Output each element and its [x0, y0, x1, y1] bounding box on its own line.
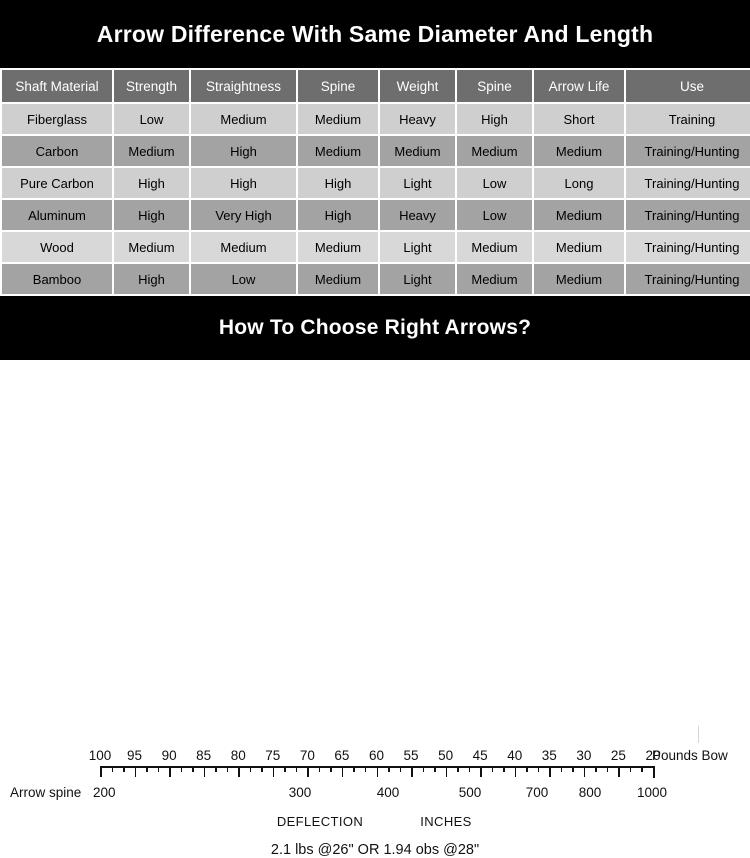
bow-weight-tick-label: 85: [196, 748, 211, 763]
ruler-minor-tick: [284, 766, 286, 772]
table-cell: Light: [380, 264, 455, 294]
ruler-major-tick: [273, 766, 275, 777]
table-cell: High: [298, 168, 378, 198]
ruler-minor-tick: [538, 766, 540, 772]
table-header-cell: Strength: [114, 70, 189, 102]
ruler-minor-tick: [365, 766, 367, 772]
ruler-minor-tick: [353, 766, 355, 772]
comparison-table-container: Shaft MaterialStrengthStraightnessSpineW…: [0, 68, 750, 296]
table-cell: High: [191, 136, 296, 166]
table-cell: Long: [534, 168, 624, 198]
table-header-cell: Spine: [457, 70, 532, 102]
table-cell: Medium: [534, 232, 624, 262]
infographic-page: Arrow Difference With Same Diameter And …: [0, 0, 750, 506]
ruler-major-tick: [515, 766, 517, 777]
ruler-minor-tick: [112, 766, 114, 772]
table-cell: Training/Hunting: [626, 264, 750, 294]
shaft-material-cell: Carbon: [2, 136, 112, 166]
table-cell: Training/Hunting: [626, 232, 750, 262]
ruler-minor-tick: [123, 766, 125, 772]
bow-weight-ruler: [100, 766, 653, 779]
bow-weight-tick-label: 35: [542, 748, 557, 763]
choose-arrows-banner: How To Choose Right Arrows?: [0, 296, 750, 360]
ruler-minor-tick: [215, 766, 217, 772]
table-cell: Low: [457, 168, 532, 198]
table-header-cell: Spine: [298, 70, 378, 102]
table-cell: Medium: [457, 232, 532, 262]
ruler-minor-tick: [330, 766, 332, 772]
table-cell: Medium: [298, 136, 378, 166]
ruler-minor-tick: [469, 766, 471, 772]
table-row: AluminumHighVery HighHighHeavyLowMediumT…: [2, 200, 750, 230]
table-cell: High: [457, 104, 532, 134]
ruler-minor-tick: [492, 766, 494, 772]
bow-weight-tick-label: 45: [473, 748, 488, 763]
spine-value: 500: [459, 785, 482, 800]
table-cell: Medium: [114, 232, 189, 262]
ruler-major-tick: [549, 766, 551, 777]
ruler-minor-tick: [158, 766, 160, 772]
ruler-minor-tick: [388, 766, 390, 772]
ruler-minor-tick: [457, 766, 459, 772]
table-cell: Short: [534, 104, 624, 134]
table-cell: Medium: [191, 232, 296, 262]
table-cell: Training/Hunting: [626, 136, 750, 166]
ruler-major-tick: [411, 766, 413, 777]
bow-weight-tick-label: 25: [611, 748, 626, 763]
ruler-end-cap: [653, 766, 655, 778]
bow-weight-tick-label: 80: [231, 748, 246, 763]
spine-value: 1000: [637, 785, 667, 800]
ruler-minor-tick: [572, 766, 574, 772]
shaft-material-cell: Bamboo: [2, 264, 112, 294]
arrow-spine-scale: Arrow spine 2003004005007008001000: [0, 785, 750, 803]
table-row: FiberglassLowMediumMediumHeavyHighShortT…: [2, 104, 750, 134]
spine-value: 800: [579, 785, 602, 800]
table-cell: Medium: [298, 264, 378, 294]
table-header-cell: Straightness: [191, 70, 296, 102]
pounds-bow-unit-label: Pounds Bow: [652, 748, 728, 763]
spine-value: 300: [289, 785, 312, 800]
ruler-major-tick: [307, 766, 309, 777]
faint-marker-line: [698, 726, 699, 743]
ruler-minor-tick: [296, 766, 298, 772]
spine-selection-chart: 10095908580757065605550454035302520 Poun…: [0, 360, 750, 514]
table-row: Pure CarbonHighHighHighLightLowLongTrain…: [2, 168, 750, 198]
bow-weight-tick-label: 95: [127, 748, 142, 763]
ruler-minor-tick: [250, 766, 252, 772]
table-cell: Medium: [457, 264, 532, 294]
table-header-row: Shaft MaterialStrengthStraightnessSpineW…: [2, 70, 750, 102]
measurement-footnote: 2.1 lbs @26" OR 1.94 obs @28": [0, 842, 750, 858]
spine-value: 200: [93, 785, 116, 800]
spine-value: 400: [377, 785, 400, 800]
table-cell: Medium: [534, 264, 624, 294]
bow-weight-tick-label: 40: [507, 748, 522, 763]
ruler-minor-tick: [423, 766, 425, 772]
ruler-minor-tick: [630, 766, 632, 772]
table-cell: Very High: [191, 200, 296, 230]
table-cell: Medium: [380, 136, 455, 166]
ruler-minor-tick: [227, 766, 229, 772]
table-header-cell: Weight: [380, 70, 455, 102]
table-cell: Training/Hunting: [626, 168, 750, 198]
table-cell: Low: [457, 200, 532, 230]
table-head: Shaft MaterialStrengthStraightnessSpineW…: [2, 70, 750, 102]
ruler-minor-tick: [261, 766, 263, 772]
table-cell: Low: [191, 264, 296, 294]
table-cell: Light: [380, 232, 455, 262]
bow-weight-scale-labels: 10095908580757065605550454035302520: [88, 748, 668, 764]
shaft-material-cell: Aluminum: [2, 200, 112, 230]
table-cell: Medium: [298, 232, 378, 262]
ruler-major-tick: [238, 766, 240, 777]
bow-weight-tick-label: 30: [576, 748, 591, 763]
ruler-major-tick: [618, 766, 620, 777]
arrow-spine-label: Arrow spine: [10, 785, 81, 800]
bow-weight-tick-label: 100: [89, 748, 112, 763]
table-cell: High: [298, 200, 378, 230]
deflection-caption: DEFLECTION: [277, 814, 363, 829]
ruler-minor-tick: [400, 766, 402, 772]
ruler-minor-tick: [434, 766, 436, 772]
table-cell: High: [191, 168, 296, 198]
bow-weight-tick-label: 65: [334, 748, 349, 763]
ruler-minor-tick: [503, 766, 505, 772]
table-cell: Training/Hunting: [626, 200, 750, 230]
table-header-cell: Arrow Life: [534, 70, 624, 102]
table-header-cell: Shaft Material: [2, 70, 112, 102]
ruler-major-tick: [100, 766, 102, 777]
spine-value: 700: [526, 785, 549, 800]
bow-weight-tick-label: 50: [438, 748, 453, 763]
page-title: Arrow Difference With Same Diameter And …: [97, 21, 653, 48]
table-row: WoodMediumMediumMediumLightMediumMediumT…: [2, 232, 750, 262]
table-cell: Medium: [534, 136, 624, 166]
table-cell: Heavy: [380, 200, 455, 230]
ruler-major-tick: [342, 766, 344, 777]
table-cell: High: [114, 168, 189, 198]
ruler-major-tick: [446, 766, 448, 777]
bow-weight-tick-label: 90: [162, 748, 177, 763]
ruler-minor-tick: [607, 766, 609, 772]
table-cell: Medium: [191, 104, 296, 134]
axis-captions: DEFLECTION INCHES: [0, 814, 750, 832]
table-body: FiberglassLowMediumMediumHeavyHighShortT…: [2, 104, 750, 294]
table-cell: Medium: [114, 136, 189, 166]
bow-weight-tick-label: 70: [300, 748, 315, 763]
ruler-major-tick: [204, 766, 206, 777]
table-row: BambooHighLowMediumLightMediumMediumTrai…: [2, 264, 750, 294]
title-banner: Arrow Difference With Same Diameter And …: [0, 0, 750, 68]
bow-weight-tick-label: 75: [265, 748, 280, 763]
bow-weight-tick-label: 60: [369, 748, 384, 763]
table-row: CarbonMediumHighMediumMediumMediumMedium…: [2, 136, 750, 166]
arrow-comparison-table: Shaft MaterialStrengthStraightnessSpineW…: [0, 68, 750, 296]
shaft-material-cell: Pure Carbon: [2, 168, 112, 198]
table-cell: Light: [380, 168, 455, 198]
ruler-major-tick: [135, 766, 137, 777]
ruler-major-tick: [480, 766, 482, 777]
table-cell: Medium: [534, 200, 624, 230]
table-cell: High: [114, 264, 189, 294]
ruler-minor-tick: [561, 766, 563, 772]
table-cell: Medium: [457, 136, 532, 166]
ruler-major-tick: [169, 766, 171, 777]
ruler-major-tick: [377, 766, 379, 777]
ruler-minor-tick: [319, 766, 321, 772]
table-cell: Training: [626, 104, 750, 134]
table-cell: High: [114, 200, 189, 230]
table-cell: Heavy: [380, 104, 455, 134]
table-cell: Low: [114, 104, 189, 134]
section-title: How To Choose Right Arrows?: [219, 316, 531, 340]
inches-caption: INCHES: [420, 814, 472, 829]
bow-weight-tick-label: 55: [404, 748, 419, 763]
shaft-material-cell: Wood: [2, 232, 112, 262]
ruler-minor-tick: [192, 766, 194, 772]
ruler-minor-tick: [181, 766, 183, 772]
table-header-cell: Use: [626, 70, 750, 102]
ruler-minor-tick: [595, 766, 597, 772]
ruler-major-tick: [584, 766, 586, 777]
ruler-minor-tick: [146, 766, 148, 772]
ruler-minor-tick: [641, 766, 643, 772]
ruler-minor-tick: [526, 766, 528, 772]
table-cell: Medium: [298, 104, 378, 134]
shaft-material-cell: Fiberglass: [2, 104, 112, 134]
